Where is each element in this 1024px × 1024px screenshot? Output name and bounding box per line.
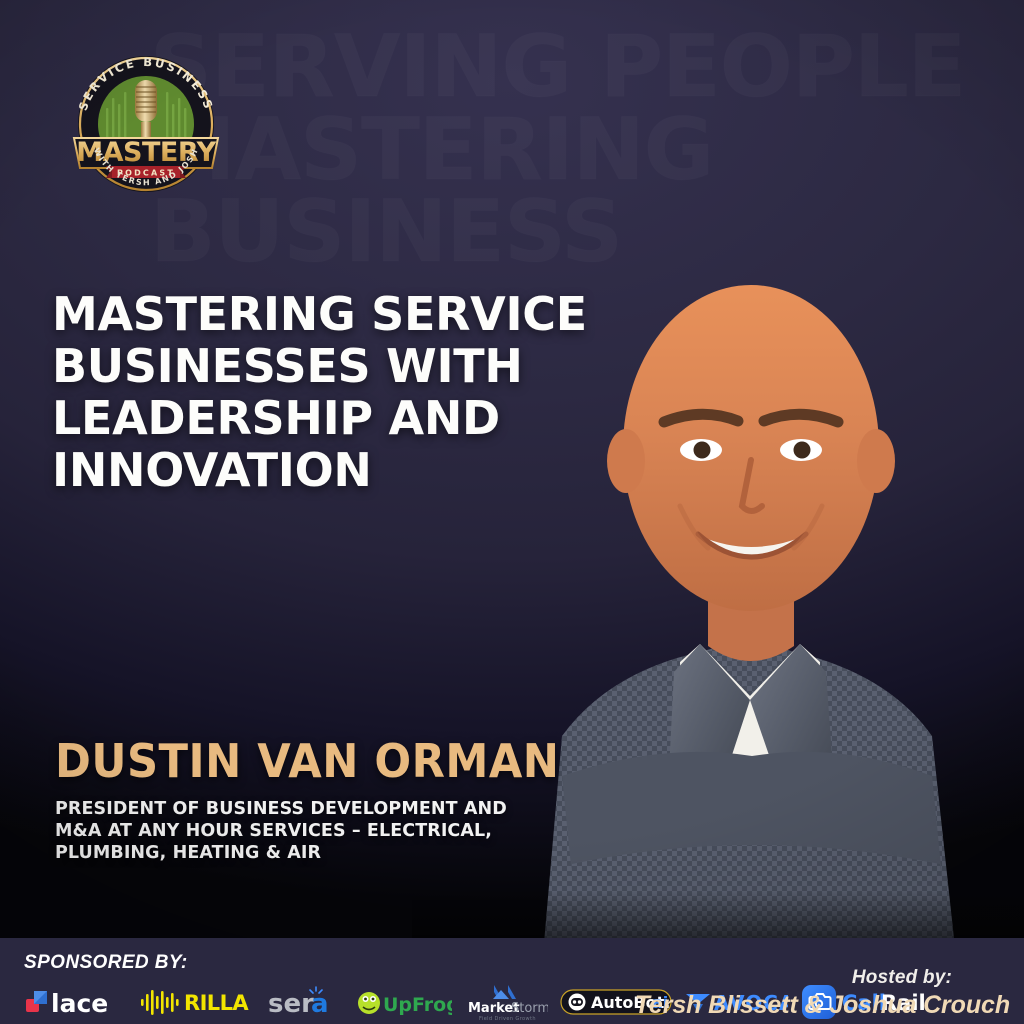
upfrog-wordmark: UpFrog — [383, 994, 452, 1016]
guest-name: DUSTIN VAN ORMAN — [55, 738, 563, 784]
sponsor-logo-upfrog[interactable]: UpFrog — [356, 981, 452, 1023]
sponsor-logo-lace[interactable]: lace — [24, 981, 128, 1023]
sponsors-section: SPONSORED BY: lace — [24, 952, 704, 1024]
sera-wordmark-a: a — [311, 989, 329, 1019]
hosts-section: Hosted by: Tersh Blissett & Joshua Crouc… — [635, 967, 1010, 1020]
robot-head-icon — [569, 994, 586, 1011]
footer-bar: SPONSORED BY: lace — [0, 938, 1024, 1024]
lace-wordmark: lace — [51, 989, 108, 1018]
podcast-cover: SERVING PEOPLE MASTERING BUSINESS — [0, 0, 1024, 1024]
guest-block: DUSTIN VAN ORMAN PRESIDENT OF BUSINESS D… — [55, 738, 595, 865]
sera-wordmark-ser: ser — [268, 989, 314, 1019]
host-names: Tersh Blissett & Joshua Crouch — [635, 991, 1010, 1020]
sponsor-logo-sera[interactable]: ser a — [268, 981, 344, 1023]
marketstorm-wordmark-storm: Storm — [511, 1001, 548, 1016]
sponsor-logo-row: lace — [24, 980, 704, 1024]
rilla-wordmark: RILLA — [184, 991, 249, 1015]
hosted-by-label: Hosted by: — [635, 967, 1010, 989]
guest-role: PRESIDENT OF BUSINESS DEVELOPMENT AND M&… — [55, 798, 595, 865]
sponsor-logo-rilla[interactable]: RILLA — [140, 981, 256, 1023]
sponsor-logo-marketstorm[interactable]: Market Storm Field Driven Growth — [464, 981, 548, 1023]
marketstorm-tagline: Field Driven Growth — [479, 1016, 536, 1022]
mountain-m-icon — [493, 985, 516, 999]
podcast-logo: MASTERY PODCAST SERVICE BUSINESS WITH TE… — [62, 46, 230, 196]
lace-squares-icon — [26, 991, 47, 1012]
waveform-icon — [141, 990, 179, 1015]
frog-circle-icon — [358, 992, 380, 1014]
episode-title: MASTERING SERVICE BUSINESSES WITH LEADER… — [52, 289, 592, 497]
sponsored-by-label: SPONSORED BY: — [24, 952, 704, 974]
